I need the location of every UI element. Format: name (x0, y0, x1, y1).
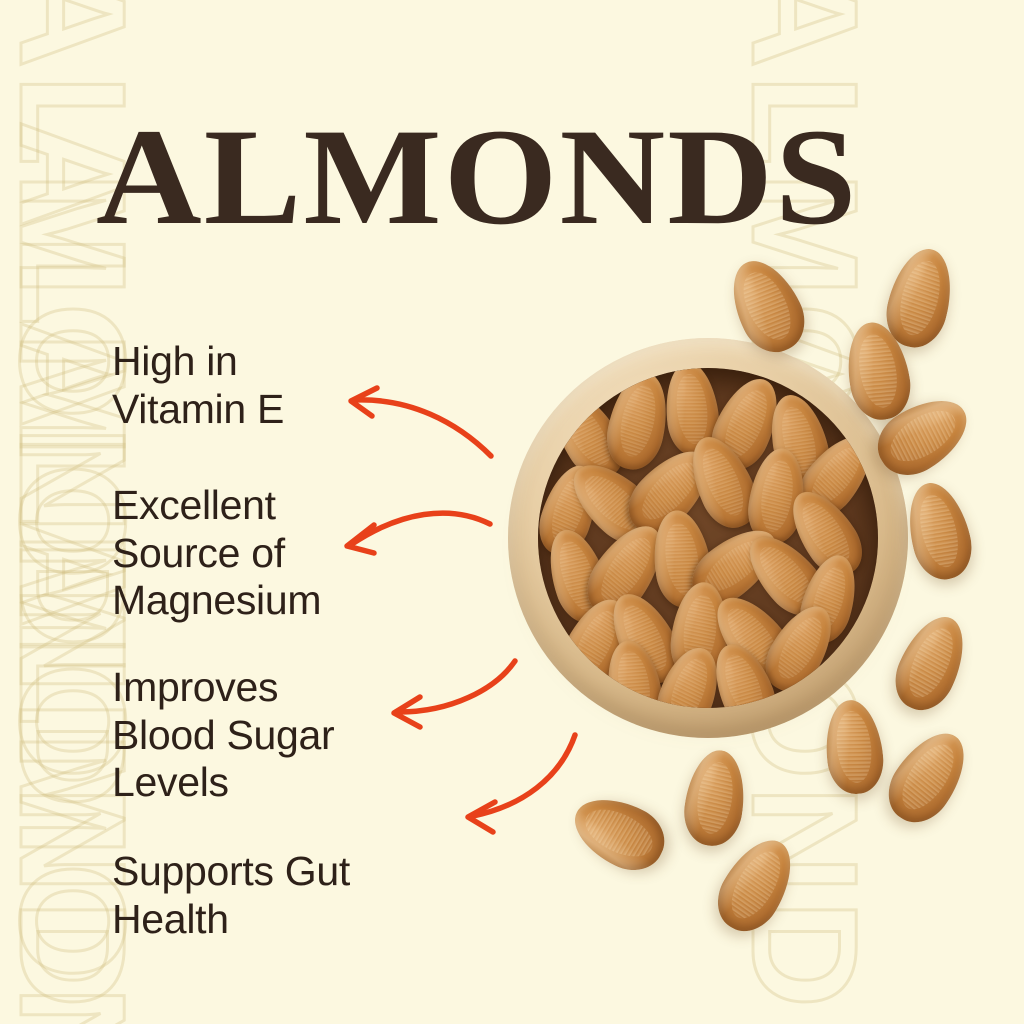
almonds-infographic: ALMOND ALMOND ALMOND ALMOND ALMOND ALMON… (0, 0, 1024, 1024)
curved-arrow-blood-sugar (394, 661, 515, 727)
scattered-almond (680, 746, 751, 849)
scattered-almond (706, 828, 807, 943)
benefit-text-gut-health: Supports Gut Health (112, 848, 350, 943)
curved-arrow-vitamin-e (351, 388, 491, 456)
curved-arrow-gut-health (468, 735, 575, 832)
curved-arrow-magnesium (347, 513, 490, 553)
scattered-almond (899, 476, 979, 585)
benefit-text-blood-sugar: Improves Blood Sugar Levels (112, 664, 334, 807)
bowl-interior (538, 368, 878, 708)
benefit-text-vitamin-e: High in Vitamin E (112, 338, 284, 433)
bowl-of-almonds (508, 338, 908, 738)
benefit-text-magnesium: Excellent Source of Magnesium (112, 482, 321, 625)
page-title: ALMONDS (96, 108, 859, 246)
scattered-almond (563, 785, 675, 882)
